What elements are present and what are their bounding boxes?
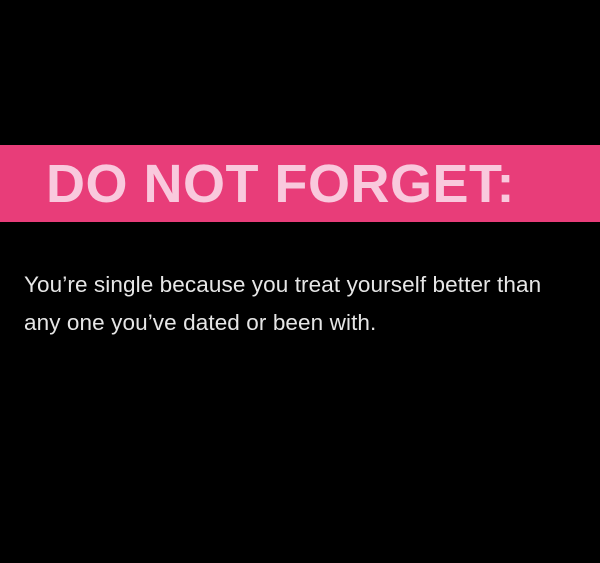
body-line-1: You’re single because you treat yourself… [24, 266, 586, 304]
body-copy: You’re single because you treat yourself… [24, 266, 586, 342]
body-line-2: any one you’ve dated or been with. [24, 304, 586, 342]
meme-card: DO NOT FORGET: You’re single because you… [0, 0, 600, 563]
headline-text: DO NOT FORGET: [46, 157, 515, 211]
headline-banner: DO NOT FORGET: [0, 145, 600, 222]
